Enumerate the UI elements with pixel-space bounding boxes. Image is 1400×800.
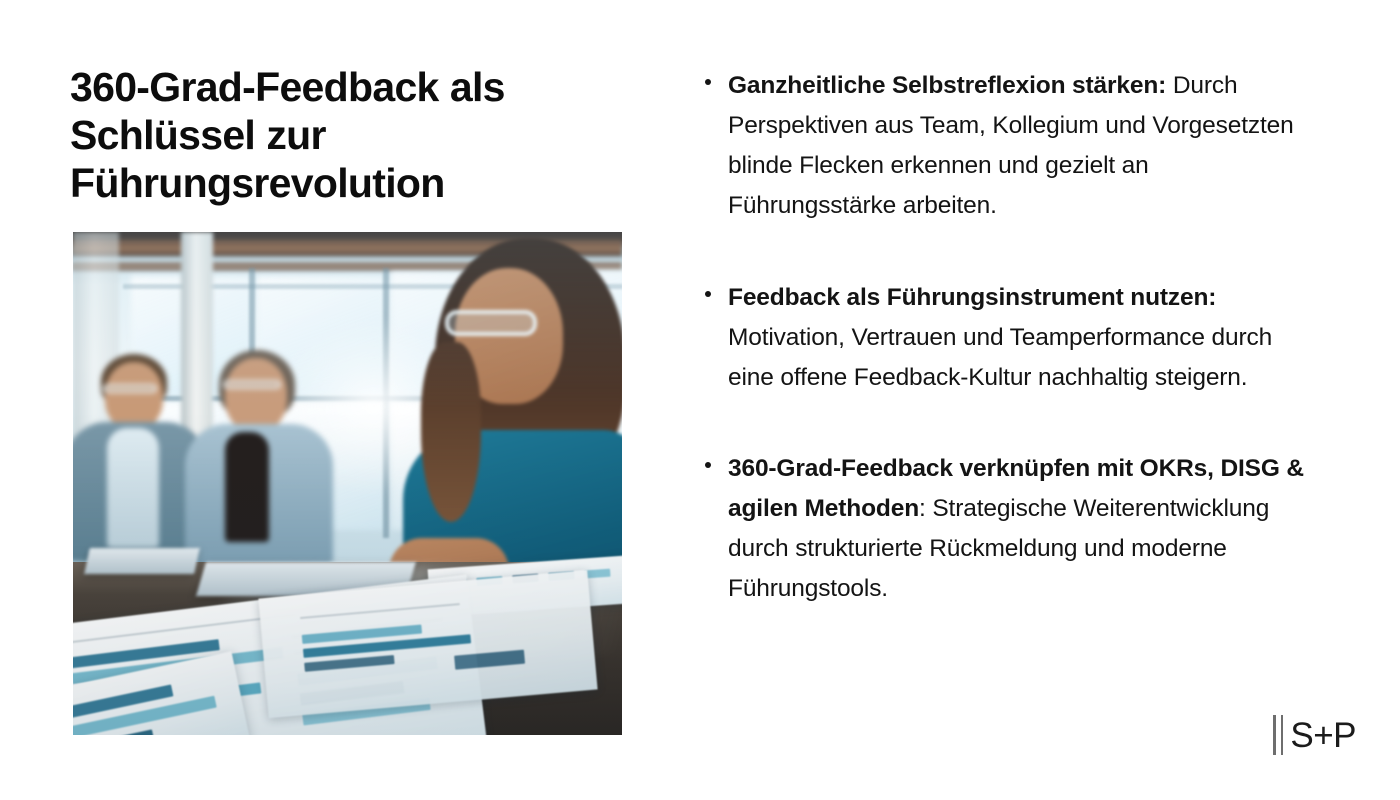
list-item: 360-Grad-Feedback verknüpfen mit OKRs, D… (700, 449, 1320, 609)
bullet-point-icon (705, 462, 711, 468)
brand-logo: S+P (1273, 714, 1356, 756)
logo-text: S+P (1290, 718, 1356, 753)
key-points-list: Ganzheitliche Selbstreflexion stärken: D… (700, 66, 1320, 609)
person-middle-inner-top (225, 432, 269, 542)
paper-rule (300, 603, 460, 619)
bullet-point-icon (705, 291, 711, 297)
person-left-head (105, 362, 163, 430)
bullet-point-icon (705, 79, 711, 85)
slide-canvas: 360-Grad-Feedback als Schlüssel zur Führ… (0, 0, 1400, 800)
laptop-device (84, 548, 200, 574)
paper-logo-mark (454, 650, 525, 670)
title-block: 360-Grad-Feedback als Schlüssel zur Führ… (70, 64, 630, 208)
page-title: 360-Grad-Feedback als Schlüssel zur Führ… (70, 64, 580, 208)
meeting-photo (73, 232, 622, 735)
logo-bar-1 (1273, 715, 1276, 755)
person-middle-glasses (223, 380, 281, 389)
bullet-body-text: Motivation, Vertrauen und Teamperformanc… (728, 324, 1272, 391)
title-line-2: Schlüssel zur (70, 112, 580, 160)
title-line-3: Führungsrevolution (70, 160, 580, 208)
person-middle-head (225, 358, 287, 432)
chart-bar (304, 655, 394, 672)
logo-bar-2 (1281, 715, 1284, 755)
person-left-glasses (103, 384, 157, 393)
list-item: Ganzheitliche Selbstreflexion stärken: D… (700, 66, 1320, 226)
chart-bar (584, 569, 610, 579)
title-line-1: 360-Grad-Feedback als (70, 64, 580, 112)
list-item: Feedback als Führungsinstrument nutzen: … (700, 278, 1320, 398)
bullet-lead-text: Feedback als Führungsinstrument nutzen: (728, 284, 1216, 311)
person-left-shirt (107, 428, 159, 548)
photo-illustration (73, 232, 622, 735)
logo-bars-icon (1273, 715, 1283, 755)
person-right-hair-front (421, 342, 481, 522)
bullet-lead-text: Ganzheitliche Selbstreflexion stärken: (728, 72, 1166, 99)
person-right-glasses (445, 310, 537, 336)
